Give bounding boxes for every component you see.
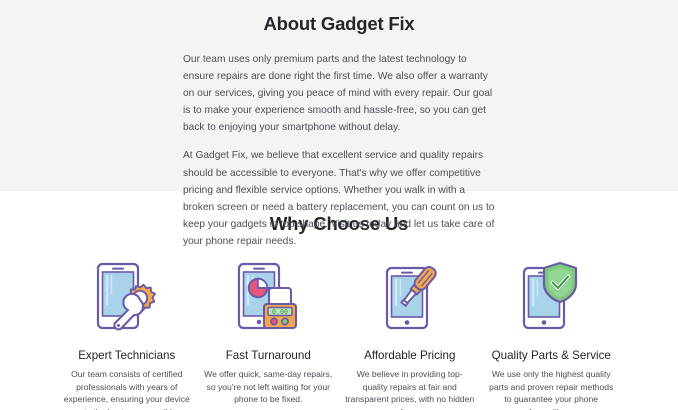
feature-card-expert-technicians: Expert Technicians Our team consists of … <box>56 259 198 410</box>
feature-card-affordable-pricing: Affordable Pricing We believe in providi… <box>339 259 481 410</box>
feature-card-quality-parts-service: Quality Parts & Service We use only the … <box>481 259 623 410</box>
about-section: About Gadget Fix Our team uses only prem… <box>0 0 678 191</box>
phone-shield-check-icon <box>508 259 594 337</box>
feature-list: Expert Technicians Our team consists of … <box>0 259 678 410</box>
about-section-title: About Gadget Fix <box>0 13 678 35</box>
feature-title: Fast Turnaround <box>226 349 311 362</box>
about-body: Our team uses only premium parts and the… <box>183 51 495 250</box>
about-paragraph-1: Our team uses only premium parts and the… <box>183 51 495 136</box>
feature-description: Our team consists of certified professio… <box>56 368 198 410</box>
page-root: About Gadget Fix Our team uses only prem… <box>0 0 678 410</box>
phone-gear-wrench-icon <box>84 259 170 337</box>
feature-title: Affordable Pricing <box>364 349 455 362</box>
timer-display-value: 0.00 <box>272 308 288 316</box>
feature-description: We offer quick, same-day repairs, so you… <box>198 368 340 406</box>
feature-title: Expert Technicians <box>78 349 175 362</box>
feature-description: We believe in providing top-quality repa… <box>339 368 481 410</box>
phone-timer-stopwatch-icon: 0.00 <box>225 259 311 337</box>
phone-screwdriver-icon <box>367 259 453 337</box>
feature-title: Quality Parts & Service <box>492 349 611 362</box>
feature-card-fast-turnaround: 0.00 Fast Turnaround We offer quick, sam… <box>198 259 340 406</box>
feature-description: We use only the highest quality parts an… <box>481 368 623 410</box>
about-paragraph-2: At Gadget Fix, we believe that excellent… <box>183 147 495 250</box>
